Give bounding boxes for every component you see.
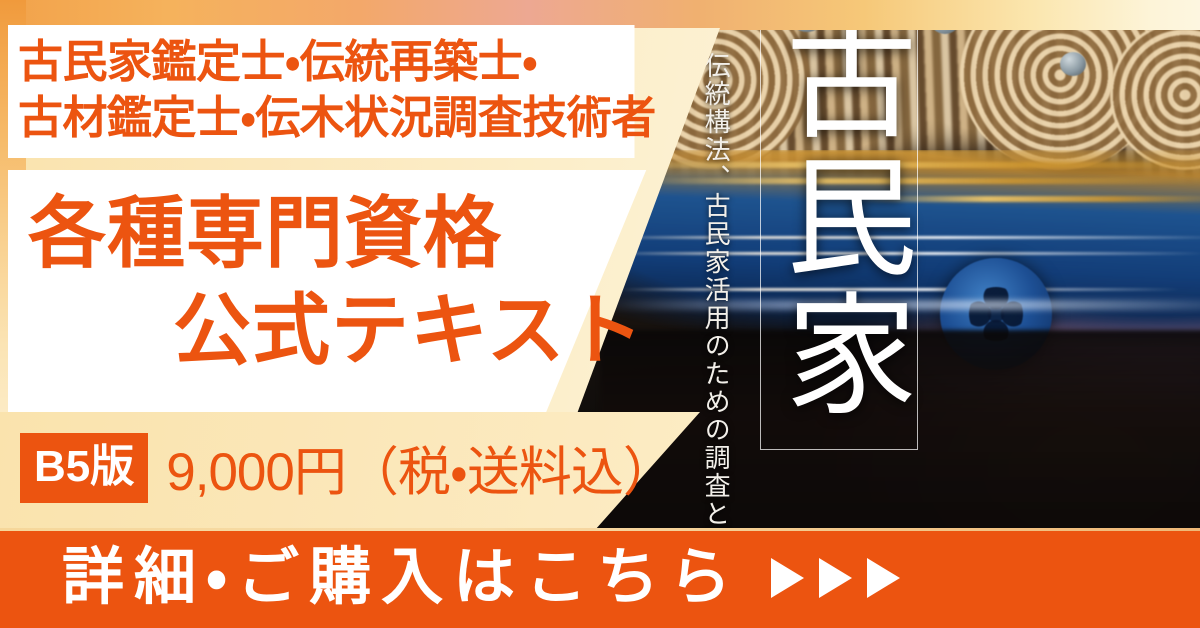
cta-top-accent-line xyxy=(0,528,1200,531)
headline-line-1: 古民家鑑定士・伝統再築士・ xyxy=(18,34,718,90)
cover-title: 古民家 xyxy=(770,10,910,440)
format-badge: B5版 xyxy=(20,433,148,503)
main-title-line-2: 公式テキスト xyxy=(18,283,698,378)
triangle-right-icon xyxy=(767,555,807,601)
headline-block: 古民家鑑定士・伝統再築士・ 古材鑑定士・伝木状況調査技術者 xyxy=(18,34,718,146)
cta-label: 詳細・ご購入はこちら xyxy=(62,547,741,609)
triangle-right-icon xyxy=(815,555,855,601)
carving-knob-5 xyxy=(1060,52,1086,76)
price-value: 9,000円（税・送料込） xyxy=(166,430,675,506)
promo-banner: 古民家 伝統構法、古民家活用のための調査と再生の 古民家鑑定士・伝統再築士・ 古… xyxy=(0,0,1200,628)
main-title-block: 各種専門資格 公式テキスト xyxy=(18,186,698,378)
cta-bar[interactable]: 詳細・ご購入はこちら xyxy=(0,528,1200,628)
headline-line-2: 古材鑑定士・伝木状況調査技術者 xyxy=(18,90,718,146)
triangle-right-icon xyxy=(863,555,903,601)
main-title-line-1: 各種専門資格 xyxy=(18,186,698,281)
price-row: B5版 9,000円（税・送料込） xyxy=(20,430,675,506)
cta-arrows xyxy=(767,555,903,601)
